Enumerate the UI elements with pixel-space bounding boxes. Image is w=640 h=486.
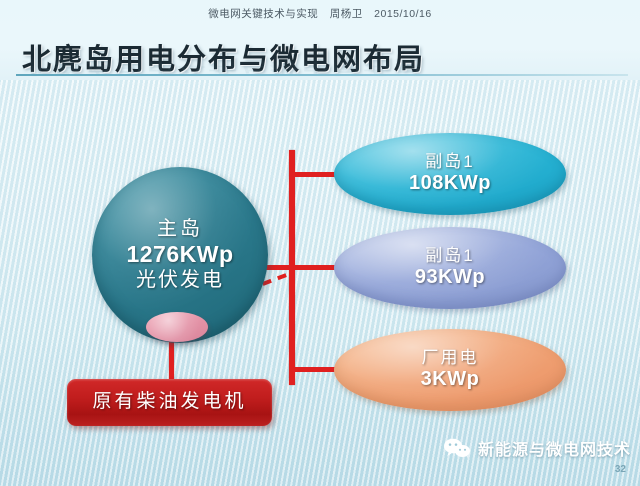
- node-main-island-capacity: 1276KWp: [126, 241, 233, 268]
- header-date-label: 2015/10/16: [374, 8, 432, 20]
- connector-branch-sub-island-2: [289, 265, 335, 270]
- node-plant-load-capacity: 3KWp: [421, 368, 480, 392]
- node-sub-island-2-name: 副岛1: [425, 246, 474, 266]
- title-divider: [16, 74, 628, 76]
- connector-branch-plant-load: [289, 367, 335, 372]
- node-diesel-generator[interactable]: 原有柴油发电机: [67, 379, 272, 426]
- node-pv-connection-point[interactable]: [146, 312, 208, 342]
- node-sub-island-2[interactable]: 副岛1 93KWp: [334, 227, 566, 309]
- header-author-label: 周杨卫: [330, 8, 363, 20]
- node-main-island-name: 主岛: [157, 218, 203, 242]
- page-number: 32: [615, 464, 626, 475]
- node-diesel-generator-label: 原有柴油发电机: [92, 391, 246, 413]
- wechat-icon: [443, 437, 471, 459]
- node-sub-island-2-capacity: 93KWp: [415, 266, 485, 290]
- header-meta: 微电网关键技术与实现 周杨卫 2015/10/16: [0, 6, 640, 21]
- slide-canvas: 微电网关键技术与实现 周杨卫 2015/10/16 北麂岛用电分布与微电网布局 …: [0, 0, 640, 486]
- footer-brand: 新能源与微电网技术: [443, 436, 631, 460]
- node-main-island-type: 光伏发电: [136, 269, 224, 293]
- node-sub-island-1[interactable]: 副岛1 108KWp: [334, 133, 566, 215]
- node-sub-island-1-name: 副岛1: [425, 152, 474, 172]
- node-plant-load[interactable]: 厂用电 3KWp: [334, 329, 566, 411]
- node-sub-island-1-capacity: 108KWp: [409, 172, 491, 196]
- connector-branch-sub-island-1: [289, 172, 335, 177]
- page-title: 北麂岛用电分布与微电网布局: [22, 36, 425, 78]
- node-plant-load-name: 厂用电: [422, 348, 479, 368]
- header-course-label: 微电网关键技术与实现: [208, 8, 318, 20]
- footer-brand-label: 新能源与微电网技术: [478, 436, 631, 460]
